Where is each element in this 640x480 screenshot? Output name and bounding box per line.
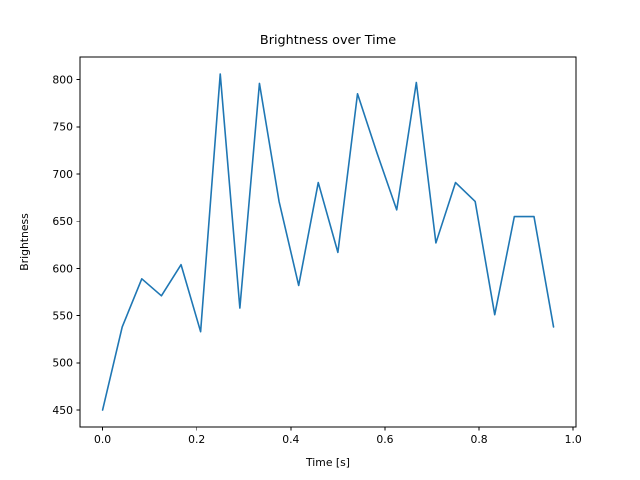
x-tick-label: 0.6 (376, 433, 393, 446)
x-axis-label: Time [s] (305, 456, 350, 469)
y-tick-label: 750 (52, 121, 73, 134)
y-tick-label: 450 (52, 404, 73, 417)
y-axis-label: Brightness (18, 213, 31, 271)
y-tick-label: 800 (52, 74, 73, 87)
x-tick-label: 0.0 (94, 433, 111, 446)
x-tick-label: 0.8 (470, 433, 487, 446)
x-tick-label: 0.2 (188, 433, 205, 446)
x-axis-ticks: 0.00.20.40.60.81.0 (94, 427, 582, 446)
plot-area-background (80, 57, 576, 427)
x-tick-label: 0.4 (282, 433, 299, 446)
y-tick-label: 500 (52, 357, 73, 370)
y-tick-label: 700 (52, 168, 73, 181)
y-tick-label: 600 (52, 262, 73, 275)
y-axis-ticks: 450500550600650700750800 (52, 74, 80, 417)
line-chart: 0.00.20.40.60.81.0 450500550600650700750… (0, 0, 640, 480)
y-tick-label: 550 (52, 310, 73, 323)
y-tick-label: 650 (52, 215, 73, 228)
x-tick-label: 1.0 (565, 433, 582, 446)
figure-canvas: 0.00.20.40.60.81.0 450500550600650700750… (0, 0, 640, 480)
chart-title: Brightness over Time (260, 33, 396, 48)
